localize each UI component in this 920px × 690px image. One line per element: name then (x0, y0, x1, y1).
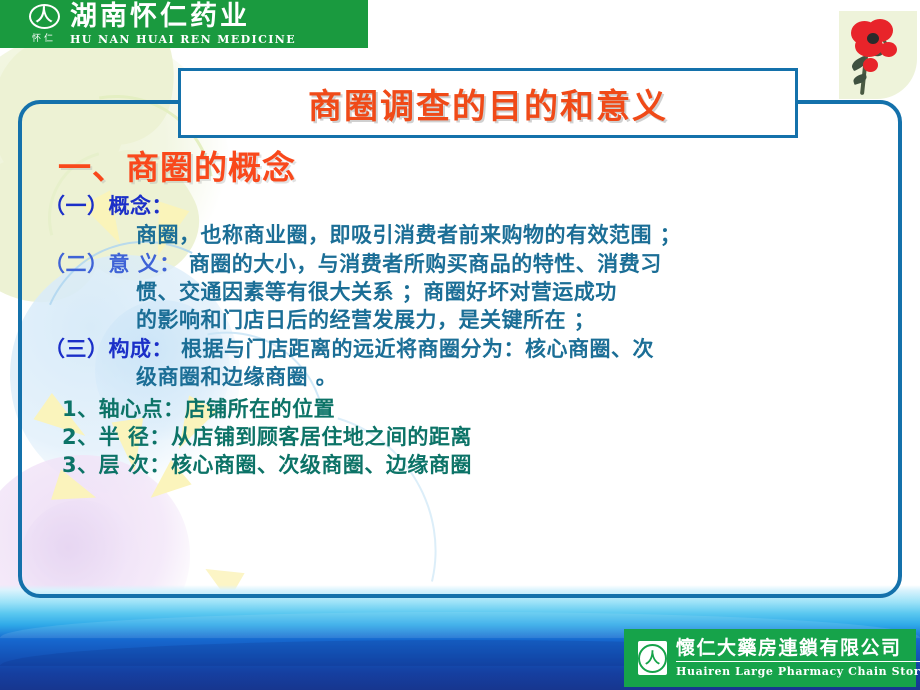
numbered-item-text: 从店铺到顾客居住地之间的距离 (171, 423, 472, 451)
flower-petal (880, 42, 897, 57)
slide-title: 商圈调查的目的和意义 (308, 79, 668, 128)
slide-title-box: 商圈调查的目的和意义 (178, 68, 798, 138)
huairen-logo-icon: 人 怀仁 (24, 4, 64, 44)
logo-subtitle: 怀仁 (32, 31, 56, 44)
list-item-text: 商圈，也称商业圈，即吸引消费者前来购物的有效范围 ； (136, 221, 884, 249)
item-label: （一）概念： (44, 194, 173, 218)
brand-name-en: HU NAN HUAI REN MEDICINE (70, 34, 296, 45)
numbered-item-label: 半 径： (99, 423, 171, 451)
numbered-item-num: 1、 (62, 395, 99, 423)
footer-company-name-en: Huairen Large Pharmacy Chain Store (676, 666, 920, 677)
flower-petal (863, 58, 878, 72)
item-label: （二）意 义： (44, 250, 181, 278)
numbered-item: 2、 半 径： 从店铺到顾客居住地之间的距离 (62, 423, 884, 451)
brand-name-cn: 湖南怀仁药业 (70, 3, 296, 30)
numbered-item-label: 层 次： (99, 451, 171, 479)
header-text-block: 湖南怀仁药业 HU NAN HUAI REN MEDICINE (70, 3, 296, 45)
list-item: （三）构成： 根据与门店距离的远近将商圈分为：核心商圈、次 (44, 335, 884, 363)
footer-logo-glyph: 人 (638, 644, 667, 673)
numbered-item: 3、 层 次： 核心商圈、次级商圈、边缘商圈 (62, 451, 884, 479)
list-item-text: 级商圈和边缘商圈 。 (136, 363, 884, 391)
item-text: 根据与门店距离的远近将商圈分为：核心商圈、次 (181, 335, 654, 363)
footer-company-name-cn: 懷仁大藥房連鎖有限公司 (676, 639, 920, 662)
flower-leaf (852, 73, 868, 85)
list-item: （一）概念： (44, 192, 884, 220)
numbered-item-label: 轴心点： (99, 395, 185, 423)
huairen-footer-logo-icon: 人 (638, 641, 667, 675)
numbered-item-num: 2、 (62, 423, 99, 451)
footer-text-block: 懷仁大藥房連鎖有限公司 Huairen Large Pharmacy Chain… (676, 639, 920, 677)
slide-body: 一、商圈的概念 （一）概念： 商圈，也称商业圈，即吸引消费者前来购物的有效范围 … (44, 150, 884, 570)
section-heading: 一、商圈的概念 (58, 150, 884, 186)
flower-center (867, 33, 879, 44)
item-text: 商圈的大小，与消费者所购买商品的特性、消费习 (189, 250, 662, 278)
footer-company-logo: 人 懷仁大藥房連鎖有限公司 Huairen Large Pharmacy Cha… (624, 629, 916, 687)
item-label: （三）构成： (44, 335, 173, 363)
numbered-item: 1、 轴心点： 店铺所在的位置 (62, 395, 884, 423)
presentation-slide: 人 怀仁 湖南怀仁药业 HU NAN HUAI REN MEDICINE 商圈调… (0, 0, 920, 690)
numbered-item-num: 3、 (62, 451, 99, 479)
list-item: （二）意 义： 商圈的大小，与消费者所购买商品的特性、消费习 (44, 250, 884, 278)
logo-circle-glyph: 人 (29, 4, 60, 29)
company-header-banner: 人 怀仁 湖南怀仁药业 HU NAN HUAI REN MEDICINE (0, 0, 368, 48)
numbered-item-text: 店铺所在的位置 (185, 395, 336, 423)
list-item-text: 惯、交通因素等有很大关系 ；商圈好坏对营运成功 (136, 278, 884, 306)
plum-blossom-image (839, 11, 917, 99)
numbered-item-text: 核心商圈、次级商圈、边缘商圈 (171, 451, 472, 479)
list-item-text: 的影响和门店日后的经营发展力，是关键所在 ； (136, 306, 884, 334)
